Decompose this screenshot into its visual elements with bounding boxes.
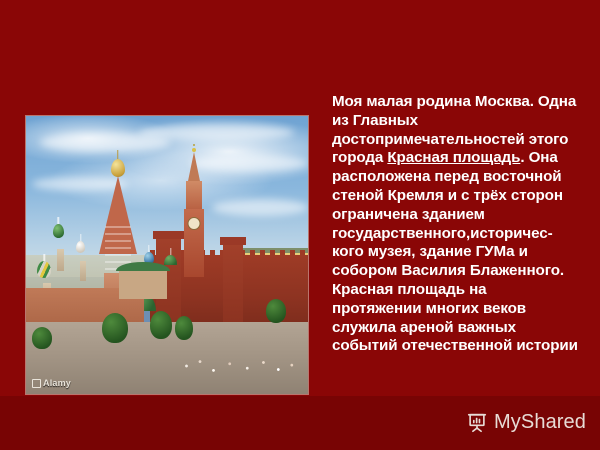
st-basil-pavilion (119, 269, 167, 300)
dome-drum-green (57, 249, 64, 271)
tree-3 (175, 316, 193, 340)
white-onion-dome (76, 241, 85, 253)
green-onion-dome (53, 224, 64, 238)
red-square-moscow-photo: Alamy (26, 116, 308, 394)
kremlin-clock (187, 217, 200, 230)
spasskaya-tower (180, 147, 208, 278)
red-square-link[interactable]: Красная площадь (387, 149, 520, 166)
alamy-mark-icon (32, 379, 41, 388)
crowd-of-people (173, 344, 308, 388)
tree-2 (150, 311, 172, 339)
presentation-chart-icon (466, 412, 488, 434)
body-text-part-2: . Она расположена перед восточной стеной… (332, 149, 578, 354)
st-basil-gold-dome (111, 159, 125, 177)
photo-canvas: Alamy (26, 116, 308, 394)
cloud-5 (212, 199, 308, 216)
myshared-wordmark: MyShared (494, 411, 586, 434)
myshared-branding[interactable]: MyShared (466, 411, 586, 434)
dome-drum-white (80, 261, 86, 281)
spasskaya-star (192, 148, 196, 152)
alamy-watermark-label: Alamy (43, 378, 71, 388)
tree-1 (102, 313, 128, 343)
slide-body-text: Моя малая родина Москва. Одна из Главных… (332, 93, 580, 356)
tree-5 (32, 327, 52, 349)
alamy-watermark: Alamy (32, 378, 71, 388)
kremlin-wall-tower-2 (223, 244, 243, 327)
slide-canvas: Alamy Моя малая родина Москва. Одна из Г… (0, 0, 600, 450)
cloud-2 (139, 124, 294, 141)
tree-4 (266, 299, 286, 323)
